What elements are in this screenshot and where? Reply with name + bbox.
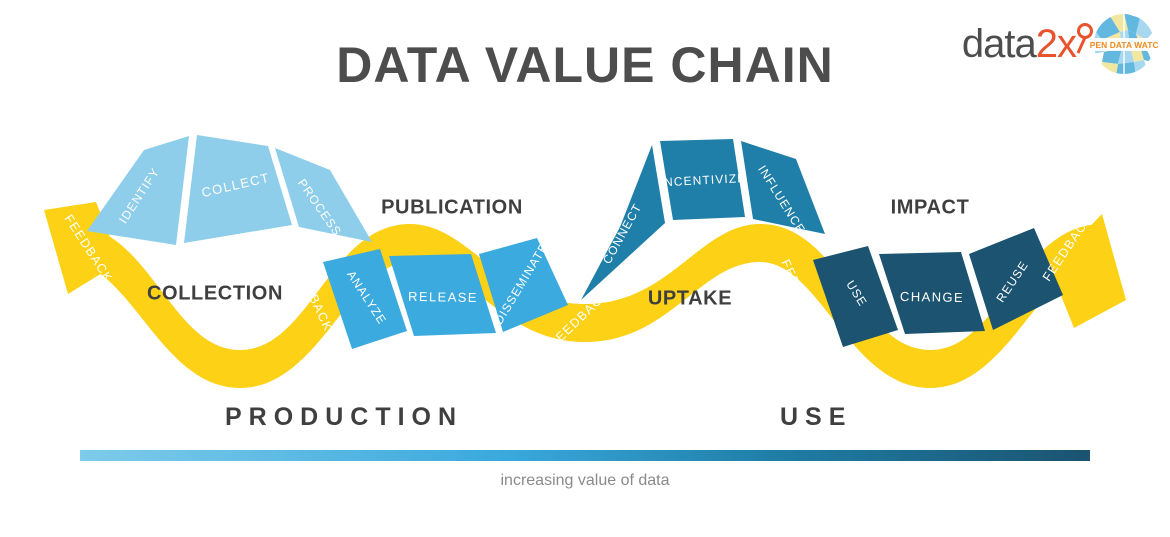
value-axis-labels: PRODUCTION USE: [0, 403, 1170, 439]
data2x-logo: data 2x: [962, 24, 1076, 64]
data2x-logo-text-data: data: [962, 24, 1036, 64]
open-data-watch-logo-text: OPEN DATA WATCH: [1090, 40, 1158, 50]
data2x-logo-text-2x: 2x: [1036, 22, 1076, 66]
axis-caption: increasing value of data: [0, 472, 1170, 490]
step-collect[interactable]: COLLECT: [184, 135, 292, 243]
section-label-publication: PUBLICATION: [381, 196, 523, 218]
data-value-chain-diagram: IDENTIFY COLLECT PROCESS COLLECTION ANAL…: [0, 104, 1170, 404]
open-data-watch-globe-icon: OPEN DATA WATCH: [1090, 10, 1158, 78]
axis-label-use: USE: [780, 403, 852, 432]
step-connect[interactable]: CONNECT: [581, 145, 665, 300]
value-gradient-bar: [80, 450, 1090, 461]
section-label-uptake: UPTAKE: [648, 287, 732, 309]
step-process[interactable]: PROCESS: [275, 148, 372, 242]
section-label-impact: IMPACT: [891, 196, 970, 218]
section-impact: USE CHANGE REUSE IMPACT: [813, 196, 1063, 347]
step-label-release: RELEASE: [408, 289, 478, 305]
step-influence[interactable]: INFLUENCE: [741, 141, 825, 236]
logo-group: data 2x: [962, 10, 1158, 78]
step-identify[interactable]: IDENTIFY: [87, 136, 189, 245]
axis-label-production: PRODUCTION: [225, 403, 463, 432]
step-label-change: CHANGE: [900, 289, 964, 305]
open-data-watch-logo: OPEN DATA WATCH: [1090, 10, 1158, 78]
step-incentivize[interactable]: INCENTIVIZE: [659, 139, 746, 220]
section-label-collection: COLLECTION: [147, 282, 283, 304]
infographic-canvas: DATA VALUE CHAIN data 2x: [0, 0, 1170, 537]
